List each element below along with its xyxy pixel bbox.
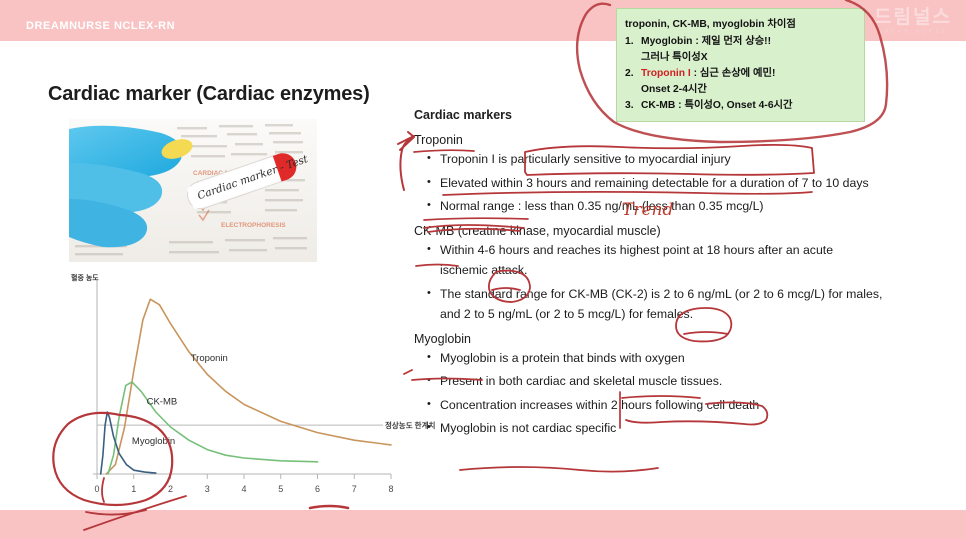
callout-item-2-number: 2. bbox=[625, 66, 641, 82]
callout-item-2-rest: : 심근 손상에 예민! bbox=[691, 68, 776, 79]
ckmb-group-title: CK-MB (creatine kinase, myocardial muscl… bbox=[414, 224, 884, 238]
callout-item-3: 3. CK-MB : 특이성O, Onset 4-6시간 bbox=[625, 98, 856, 114]
callout-item-2: 2. Troponin I : 심근 손상에 예민! bbox=[625, 66, 856, 82]
callout-item-3-number: 3. bbox=[625, 98, 641, 114]
troponin-group: Troponin Troponin I is particularly sens… bbox=[414, 133, 884, 217]
svg-text:3: 3 bbox=[205, 484, 210, 494]
list-item: Normal range : less than 0.35 ng/mL (les… bbox=[440, 196, 884, 217]
logo-korean-text: 드림널스 bbox=[874, 8, 952, 27]
logo-english-text: DREAM NURSE bbox=[874, 30, 952, 35]
svg-text:ELECTROPHORESIS: ELECTROPHORESIS bbox=[221, 222, 286, 229]
ckmb-bullets: Within 4-6 hours and reaches its highest… bbox=[414, 240, 884, 325]
footer-bar bbox=[0, 510, 966, 538]
ckmb-group: CK-MB (creatine kinase, myocardial muscl… bbox=[414, 224, 884, 325]
callout-item-1-text: Myoglobin : 제일 먼저 상승!! bbox=[641, 34, 856, 50]
dreamnurse-logo: 드림널스 DREAM NURSE bbox=[874, 8, 952, 35]
callout-item-1: 1. Myoglobin : 제일 먼저 상승!! bbox=[625, 34, 856, 50]
comparison-callout-box: troponin, CK-MB, myoglobin 차이점 1. Myoglo… bbox=[616, 8, 865, 122]
callout-item-2-text: Troponin I : 심근 손상에 예민! bbox=[641, 66, 856, 82]
svg-text:CK-MB: CK-MB bbox=[147, 396, 178, 407]
brand-label: DREAMNURSE NCLEX-RN bbox=[26, 20, 175, 32]
svg-text:Myoglobin: Myoglobin bbox=[132, 436, 175, 447]
svg-text:2: 2 bbox=[168, 484, 173, 494]
svg-text:Troponin: Troponin bbox=[191, 353, 228, 364]
list-item: The standard range for CK-MB (CK-2) is 2… bbox=[440, 284, 884, 325]
svg-text:6: 6 bbox=[315, 484, 320, 494]
myoglobin-group: Myoglobin Myoglobin is a protein that bi… bbox=[414, 332, 884, 439]
callout-item-2-sub: Onset 2-4시간 bbox=[625, 82, 856, 98]
arrow-to-troponin-heading bbox=[400, 138, 412, 190]
list-item: Myoglobin is not cardiac specific bbox=[440, 418, 884, 439]
list-item: Present in both cardiac and skeletal mus… bbox=[440, 371, 884, 392]
callout-item-2-red-prefix: Troponin I bbox=[641, 68, 691, 79]
svg-text:5: 5 bbox=[278, 484, 283, 494]
list-item: Within 4-6 hours and reaches its highest… bbox=[440, 240, 884, 281]
myoglobin-group-title: Myoglobin bbox=[414, 332, 884, 346]
page-title: Cardiac marker (Cardiac enzymes) bbox=[48, 83, 370, 106]
list-item: Myoglobin is a protein that binds with o… bbox=[440, 348, 884, 369]
troponin-group-title: Troponin bbox=[414, 133, 884, 147]
cardiac-markers-notes: Cardiac markers Troponin Troponin I is p… bbox=[414, 108, 884, 446]
callout-title: troponin, CK-MB, myoglobin 차이점 bbox=[625, 15, 856, 30]
cardiac-marker-photo: CARDIAC MARKER ELECTROPHORESIS Cardiac m… bbox=[69, 119, 317, 262]
list-item: Concentration increases within 2 hours f… bbox=[440, 395, 884, 416]
svg-text:8: 8 bbox=[388, 484, 393, 494]
myoglobin-bullets: Myoglobin is a protein that binds with o… bbox=[414, 348, 884, 439]
callout-item-1-sub: 그러나 특이성X bbox=[625, 50, 856, 66]
svg-text:1: 1 bbox=[131, 484, 136, 494]
callout-item-1-number: 1. bbox=[625, 34, 641, 50]
underline-not-cardiac-specific bbox=[460, 467, 658, 472]
svg-text:4: 4 bbox=[241, 484, 246, 494]
troponin-bullets: Troponin I is particularly sensitive to … bbox=[414, 149, 884, 217]
callout-item-3-text: CK-MB : 특이성O, Onset 4-6시간 bbox=[641, 98, 856, 114]
list-item: Troponin I is particularly sensitive to … bbox=[440, 149, 884, 170]
cardiac-marker-time-chart: 정상농도 한계치012345678TroponinCK-MBMyoglobin혈… bbox=[55, 268, 395, 513]
slide-canvas: DREAMNURSE NCLEX-RN 드림널스 DREAM NURSE Car… bbox=[0, 0, 966, 538]
svg-text:7: 7 bbox=[352, 484, 357, 494]
list-item: Elevated within 3 hours and remaining de… bbox=[440, 173, 884, 194]
svg-text:혈중 농도: 혈중 농도 bbox=[71, 273, 99, 282]
svg-text:0: 0 bbox=[94, 484, 99, 494]
